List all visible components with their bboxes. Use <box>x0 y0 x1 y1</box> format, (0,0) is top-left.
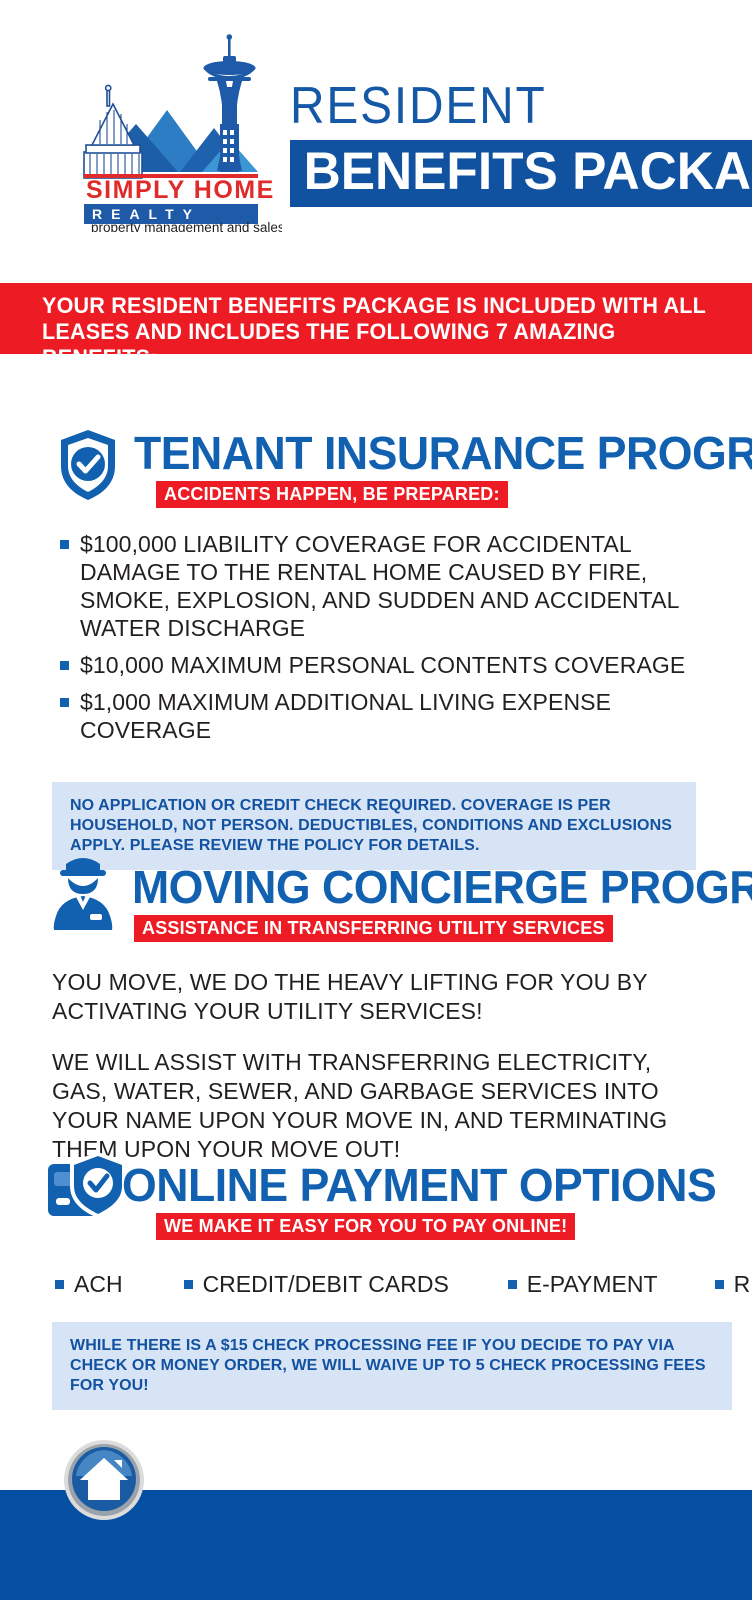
title-line-resident: RESIDENT <box>290 78 686 134</box>
tenant-insurance-bullet-list: $100,000 LIABILITY COVERAGE FOR ACCIDENT… <box>52 530 700 744</box>
list-item: ACH <box>52 1270 123 1298</box>
section-moving-concierge: MOVING CONCIERGE PROGRAM ASSISTANCE IN T… <box>0 852 752 1186</box>
company-logo: SIMPLY HOME REALTY property management a… <box>62 32 282 232</box>
logo-name-line1: SIMPLY HOME <box>86 176 275 204</box>
section-subtitle-moving-concierge: ASSISTANCE IN TRANSFERRING UTILITY SERVI… <box>134 915 613 942</box>
section-subtitle-online-payment: WE MAKE IT EASY FOR YOU TO PAY ONLINE! <box>156 1213 575 1240</box>
moving-person-icon <box>48 852 118 930</box>
intro-banner: YOUR RESIDENT BENEFITS PACKAGE IS INCLUD… <box>0 283 752 354</box>
intro-banner-text: YOUR RESIDENT BENEFITS PACKAGE IS INCLUD… <box>42 293 708 371</box>
section-subtitle-tenant-insurance: ACCIDENTS HAPPEN, BE PREPARED: <box>156 481 508 508</box>
section-online-payment: ONLINE PAYMENT OPTIONS WE MAKE IT EASY F… <box>0 1150 752 1410</box>
list-item: CREDIT/DEBIT CARDS <box>181 1270 449 1298</box>
section-tenant-insurance: TENANT INSURANCE PROGRAM ACCIDENTS HAPPE… <box>0 428 752 870</box>
section-header-tenant-insurance: TENANT INSURANCE PROGRAM ACCIDENTS HAPPE… <box>58 428 752 508</box>
section-title-tenant-insurance: TENANT INSURANCE PROGRAM <box>134 430 752 476</box>
shield-check-icon <box>58 428 118 502</box>
list-item: $1,000 MAXIMUM ADDITIONAL LIVING EXPENSE… <box>52 688 700 744</box>
online-payment-disclaimer: WHILE THERE IS A $15 CHECK PROCESSING FE… <box>52 1322 732 1410</box>
list-item: E-PAYMENT <box>505 1270 658 1298</box>
payment-options-list: ACH CREDIT/DEBIT CARDS E-PAYMENT RENTMON… <box>52 1270 700 1298</box>
simply-home-realty-logo-icon: SIMPLY HOME REALTY property management a… <box>62 32 282 232</box>
section-title-online-payment: ONLINE PAYMENT OPTIONS <box>122 1162 716 1208</box>
paragraph: WE WILL ASSIST WITH TRANSFERRING ELECTRI… <box>52 1048 690 1164</box>
house-circle-logo-icon <box>62 1438 146 1522</box>
list-item: RENTMONEY <box>712 1270 752 1298</box>
moving-concierge-body: YOU MOVE, WE DO THE HEAVY LIFTING FOR YO… <box>52 968 690 1164</box>
section-title-moving-concierge: MOVING CONCIERGE PROGRAM <box>132 864 752 910</box>
page-title: RESIDENT BENEFITS PACKAGE <box>290 78 720 207</box>
list-item: $10,000 MAXIMUM PERSONAL CONTENTS COVERA… <box>52 651 700 679</box>
card-shield-icon <box>46 1150 128 1226</box>
title-line-benefits-package: BENEFITS PACKAGE <box>290 140 752 207</box>
section-header-moving-concierge: MOVING CONCIERGE PROGRAM ASSISTANCE IN T… <box>48 852 752 942</box>
page-header: SIMPLY HOME REALTY property management a… <box>0 0 752 275</box>
logo-tagline: property management and sales <box>91 220 282 232</box>
list-item: $100,000 LIABILITY COVERAGE FOR ACCIDENT… <box>52 530 700 642</box>
paragraph: YOU MOVE, WE DO THE HEAVY LIFTING FOR YO… <box>52 968 690 1026</box>
section-header-online-payment: ONLINE PAYMENT OPTIONS WE MAKE IT EASY F… <box>46 1150 752 1240</box>
